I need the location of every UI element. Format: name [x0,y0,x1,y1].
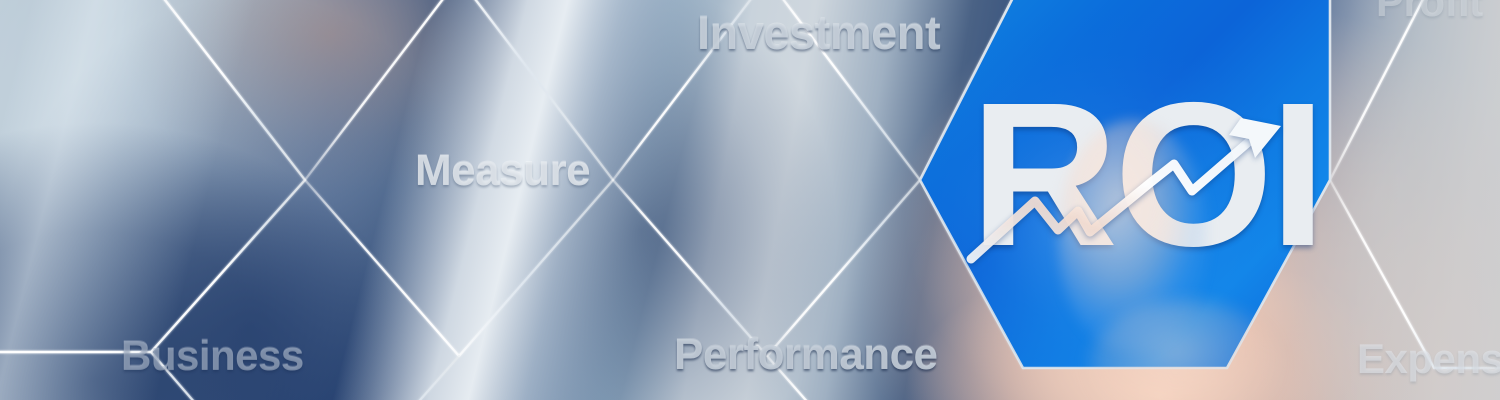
hex-label-business: Business [121,332,304,380]
roi-banner-image: ROI Investment Measure Performance Busin… [0,0,1500,400]
hex-label-expense: Expense [1357,335,1500,383]
hex-label-profit: Profit [1376,0,1483,26]
hex-label-investment: Investment [697,5,940,60]
hex-label-measure: Measure [415,146,590,196]
hex-label-performance: Performance [674,330,938,380]
